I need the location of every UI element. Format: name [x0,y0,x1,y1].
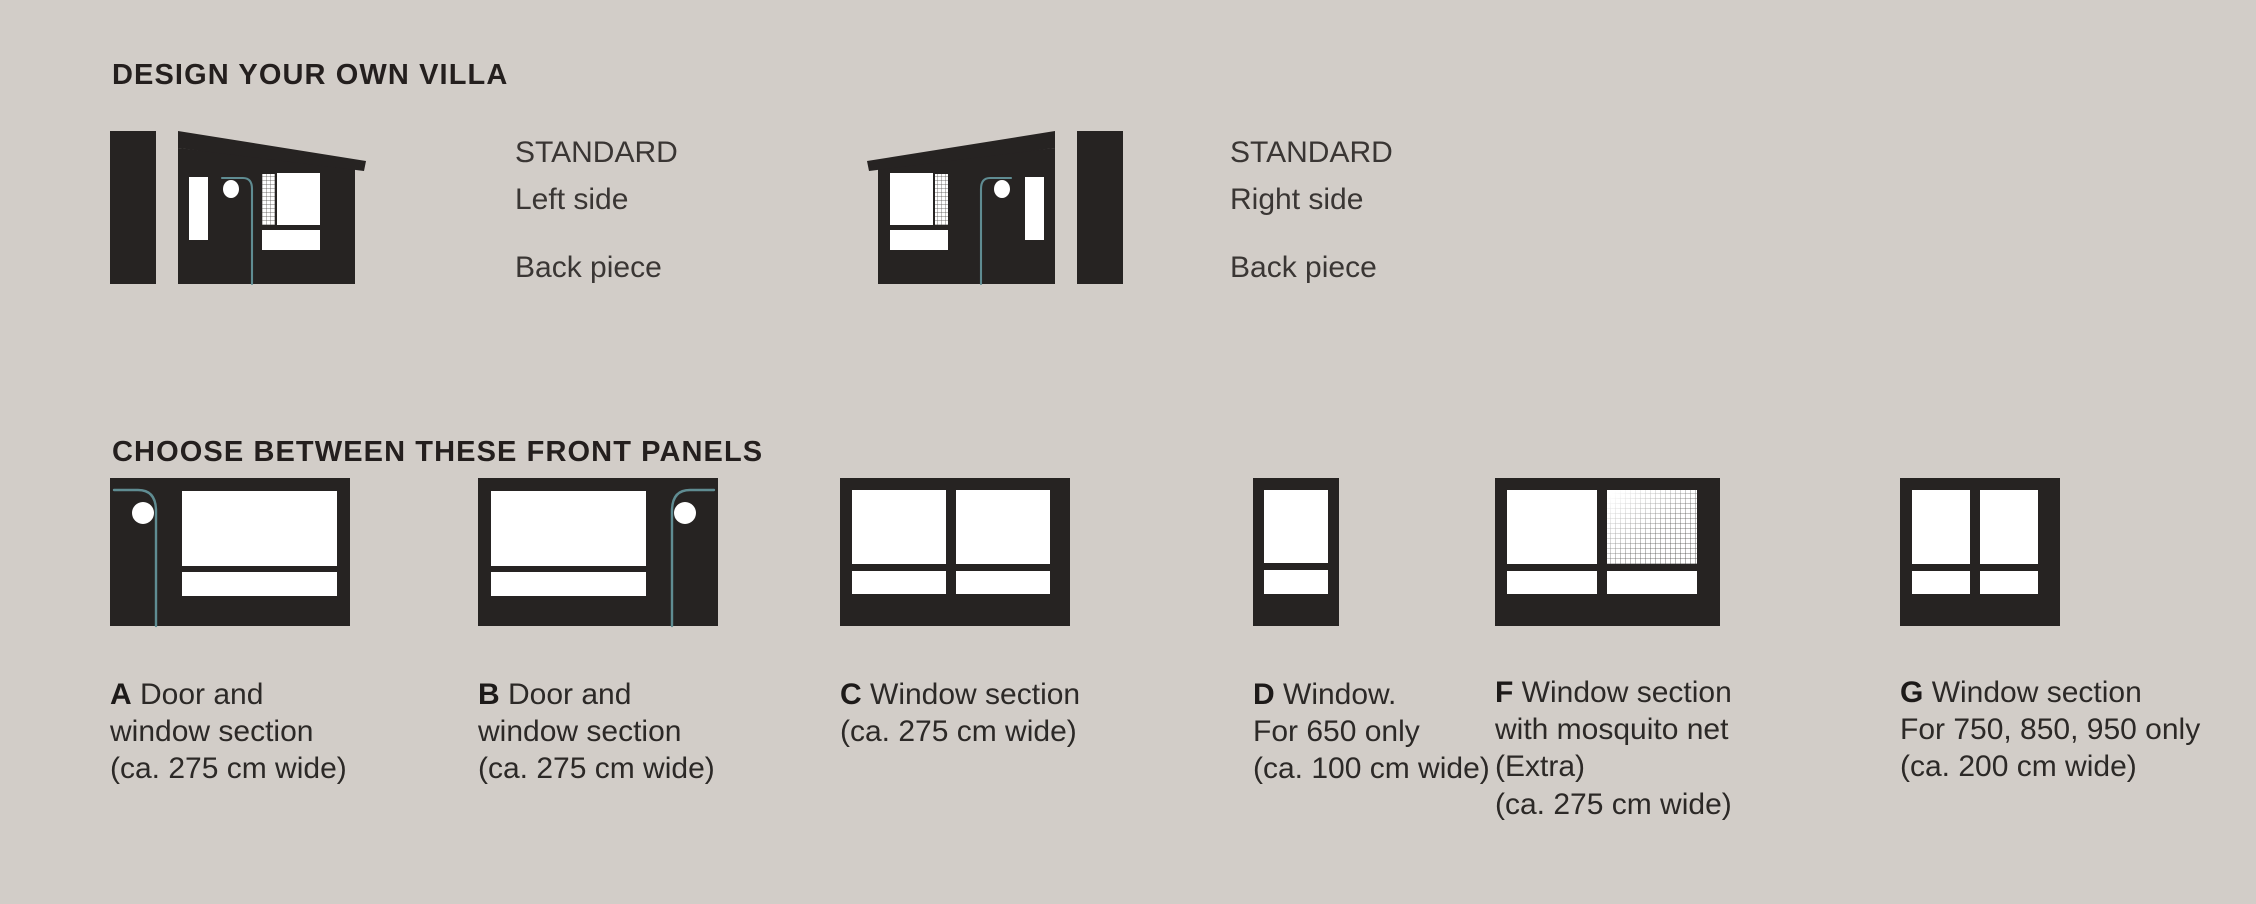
villa-left-standard-label: STANDARD [515,130,678,177]
panel-f-illustration [1495,478,1720,658]
villa-right-back-piece [1077,131,1123,284]
panel-a-illustration [110,478,350,658]
panel-c-pane-lower-left [852,571,946,594]
villa-left-illustration [110,120,470,350]
panel-option-a[interactable]: A Door and window section (ca. 275 cm wi… [110,478,350,658]
panel-c-pane-upper-left [852,490,946,564]
panel-g-line-3: (ca. 200 cm wide) [1900,748,2200,785]
panel-f-pane-lower-left [1507,571,1597,594]
panel-f-caption: F Window section with mosquito net (Extr… [1495,674,1732,823]
villa-option-left[interactable]: STANDARD Left side Back piece [110,120,470,350]
panel-g-pane-upper-right [1980,490,2038,564]
panel-d-line-3: (ca. 100 cm wide) [1253,750,1490,787]
panel-d-letter: D [1253,678,1275,711]
panel-g-pane-lower-left [1912,571,1970,594]
panel-d-pane-lower [1264,570,1328,594]
panel-a-window-upper [182,491,337,566]
villa-left-side-window [189,177,208,240]
villa-standard-row: STANDARD Left side Back piece [0,120,2256,360]
panel-f-line-3: (Extra) [1495,748,1732,785]
panel-a-line-3: (ca. 275 cm wide) [110,750,347,787]
villa-left-side-label: Left side [515,177,678,224]
panel-f-letter: F [1495,676,1513,709]
villa-right-standard-label: STANDARD [1230,130,1393,177]
panel-d-line-1: D Window. [1253,676,1490,713]
panel-f-pane-lower-right [1607,571,1697,594]
panel-c-pane-upper-right [956,490,1050,564]
panel-f-mosquito-net-pane [1607,490,1697,564]
panel-c-pane-lower-right [956,571,1050,594]
villa-option-right[interactable]: STANDARD Right side Back piece [845,120,1205,350]
panel-g-line-1: G Window section [1900,674,2200,711]
panel-f-pane-upper-left [1507,490,1597,564]
villa-left-caption: STANDARD Left side Back piece [515,130,678,292]
panel-d-caption: D Window. For 650 only (ca. 100 cm wide) [1253,676,1490,788]
panel-b-illustration [478,478,718,658]
panel-b-window-lower [491,572,646,596]
panel-option-f[interactable]: F Window section with mosquito net (Extr… [1495,478,1720,658]
panel-option-g[interactable]: G Window section For 750, 850, 950 only … [1900,478,2060,658]
panel-c-caption: C Window section (ca. 275 cm wide) [840,676,1080,750]
panel-d-pane-upper [1264,490,1328,563]
panel-b-caption: B Door and window section (ca. 275 cm wi… [478,676,715,788]
villa-configurator-page: DESIGN YOUR OWN VILLA [0,0,2256,904]
panel-b-window-upper [491,491,646,566]
panel-b-line-2: window section [478,713,715,750]
panel-b-letter: B [478,678,500,711]
panel-b-door-handle [674,502,696,524]
villa-right-window-lower [890,230,948,250]
panel-c-line-2: (ca. 275 cm wide) [840,713,1080,750]
panel-option-b[interactable]: B Door and window section (ca. 275 cm wi… [478,478,718,658]
villa-right-illustration [845,120,1205,350]
panel-g-letter: G [1900,676,1923,709]
panel-b-line-1: B Door and [478,676,715,713]
panel-g-caption: G Window section For 750, 850, 950 only … [1900,674,2200,786]
panel-a-letter: A [110,678,132,711]
villa-right-side-label: Right side [1230,177,1393,224]
villa-left-back-piece [110,131,156,284]
villa-left-door-handle [223,180,239,198]
panel-g-line-2: For 750, 850, 950 only [1900,711,2200,748]
villa-right-side-window [1025,177,1044,240]
panel-f-net-fade [1607,490,1697,564]
panel-option-c[interactable]: C Window section (ca. 275 cm wide) [840,478,1070,658]
panel-d-illustration [1253,478,1339,658]
panel-c-line-1: C Window section [840,676,1080,713]
villa-right-back-label: Back piece [1230,245,1393,292]
page-title: DESIGN YOUR OWN VILLA [112,59,508,92]
panel-g-illustration [1900,478,2060,658]
villa-left-window-lower [262,230,320,250]
panel-c-letter: C [840,678,862,711]
villa-right-caption: STANDARD Right side Back piece [1230,130,1393,292]
panel-a-door-handle [132,502,154,524]
panel-a-caption: A Door and window section (ca. 275 cm wi… [110,676,347,788]
panel-a-line-1: A Door and [110,676,347,713]
panels-section-title: CHOOSE BETWEEN THESE FRONT PANELS [112,436,763,469]
panel-g-pane-lower-right [1980,571,2038,594]
panel-f-line-4: (ca. 275 cm wide) [1495,786,1732,823]
panel-a-line-2: window section [110,713,347,750]
panel-f-line-2: with mosquito net [1495,711,1732,748]
panel-g-pane-upper-left [1912,490,1970,564]
panel-b-line-3: (ca. 275 cm wide) [478,750,715,787]
villa-right-door-handle [994,180,1010,198]
villa-right-window-glass [890,173,933,225]
panel-c-illustration [840,478,1070,658]
panel-d-line-2: For 650 only [1253,713,1490,750]
villa-left-back-label: Back piece [515,245,678,292]
panel-f-line-1: F Window section [1495,674,1732,711]
panel-option-d[interactable]: D Window. For 650 only (ca. 100 cm wide) [1253,478,1339,658]
villa-left-window-glass [277,173,320,225]
panel-a-window-lower [182,572,337,596]
